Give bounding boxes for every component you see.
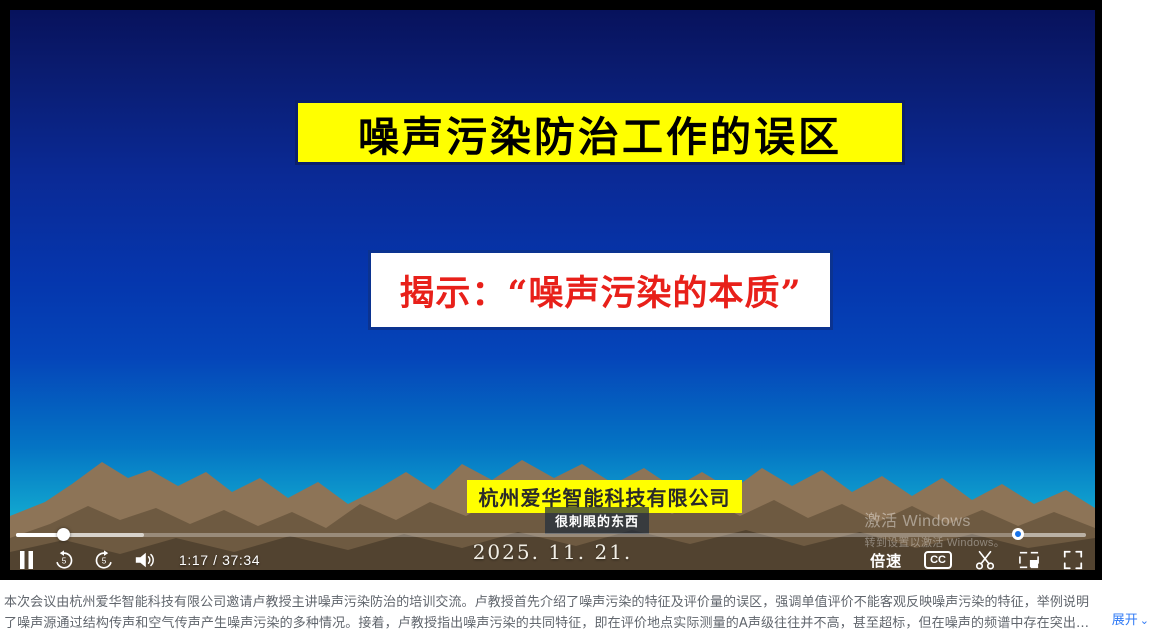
video-player-page: 噪声污染防治工作的误区 揭示：“噪声污染的本质” 杭州爱华智能科技有限公司 20… [0, 0, 1161, 637]
video-player[interactable]: 噪声污染防治工作的误区 揭示：“噪声污染的本质” 杭州爱华智能科技有限公司 20… [0, 0, 1102, 580]
progress-played [16, 533, 63, 537]
chevron-down-icon: ⌄ [1140, 614, 1149, 627]
svg-text:5: 5 [62, 556, 67, 565]
right-rail [1102, 0, 1161, 588]
volume-handle-dot [1015, 531, 1021, 537]
playback-speed-button[interactable]: 倍速 [870, 550, 902, 571]
svg-text:5: 5 [102, 556, 107, 565]
cc-icon: CC [924, 551, 952, 569]
volume-slider[interactable] [1012, 531, 1086, 538]
video-stage[interactable]: 噪声污染防治工作的误区 揭示：“噪声污染的本质” 杭州爱华智能科技有限公司 20… [10, 10, 1095, 570]
subtitles-button[interactable]: CC [924, 551, 952, 569]
slide-subtitle: 揭示：“噪声污染的本质” [368, 250, 833, 330]
rewind-5-button[interactable]: 5 [53, 549, 75, 571]
volume-slider-handle[interactable] [1012, 528, 1024, 540]
clip-button[interactable] [974, 549, 996, 571]
player-controls: 5 5 1:17 / 3 [0, 540, 1102, 580]
fullscreen-button[interactable] [1062, 549, 1084, 571]
danmaku-comment: 很刺眼的东西 [545, 507, 649, 534]
volume-button[interactable] [133, 550, 155, 570]
forward-5-button[interactable]: 5 [93, 549, 115, 571]
picture-in-picture-button[interactable] [1018, 550, 1040, 570]
time-display: 1:17 / 37:34 [179, 552, 260, 568]
video-description: 本次会议由杭州爱华智能科技有限公司邀请卢教授主讲噪声污染防治的培训交流。卢教授首… [0, 588, 1161, 637]
progress-bar[interactable] [16, 531, 1086, 538]
slide-title: 噪声污染防治工作的误区 [295, 100, 905, 165]
expand-description-button[interactable]: 展开⌄ [1098, 609, 1149, 628]
pause-button[interactable] [18, 550, 35, 570]
progress-track[interactable] [16, 533, 1086, 537]
description-text: 本次会议由杭州爱华智能科技有限公司邀请卢教授主讲噪声污染防治的培训交流。卢教授首… [4, 592, 1089, 634]
player-controls-left: 5 5 1:17 / 3 [0, 549, 260, 571]
player-controls-right: 倍速 CC [870, 549, 1102, 571]
expand-label: 展开 [1112, 613, 1138, 628]
